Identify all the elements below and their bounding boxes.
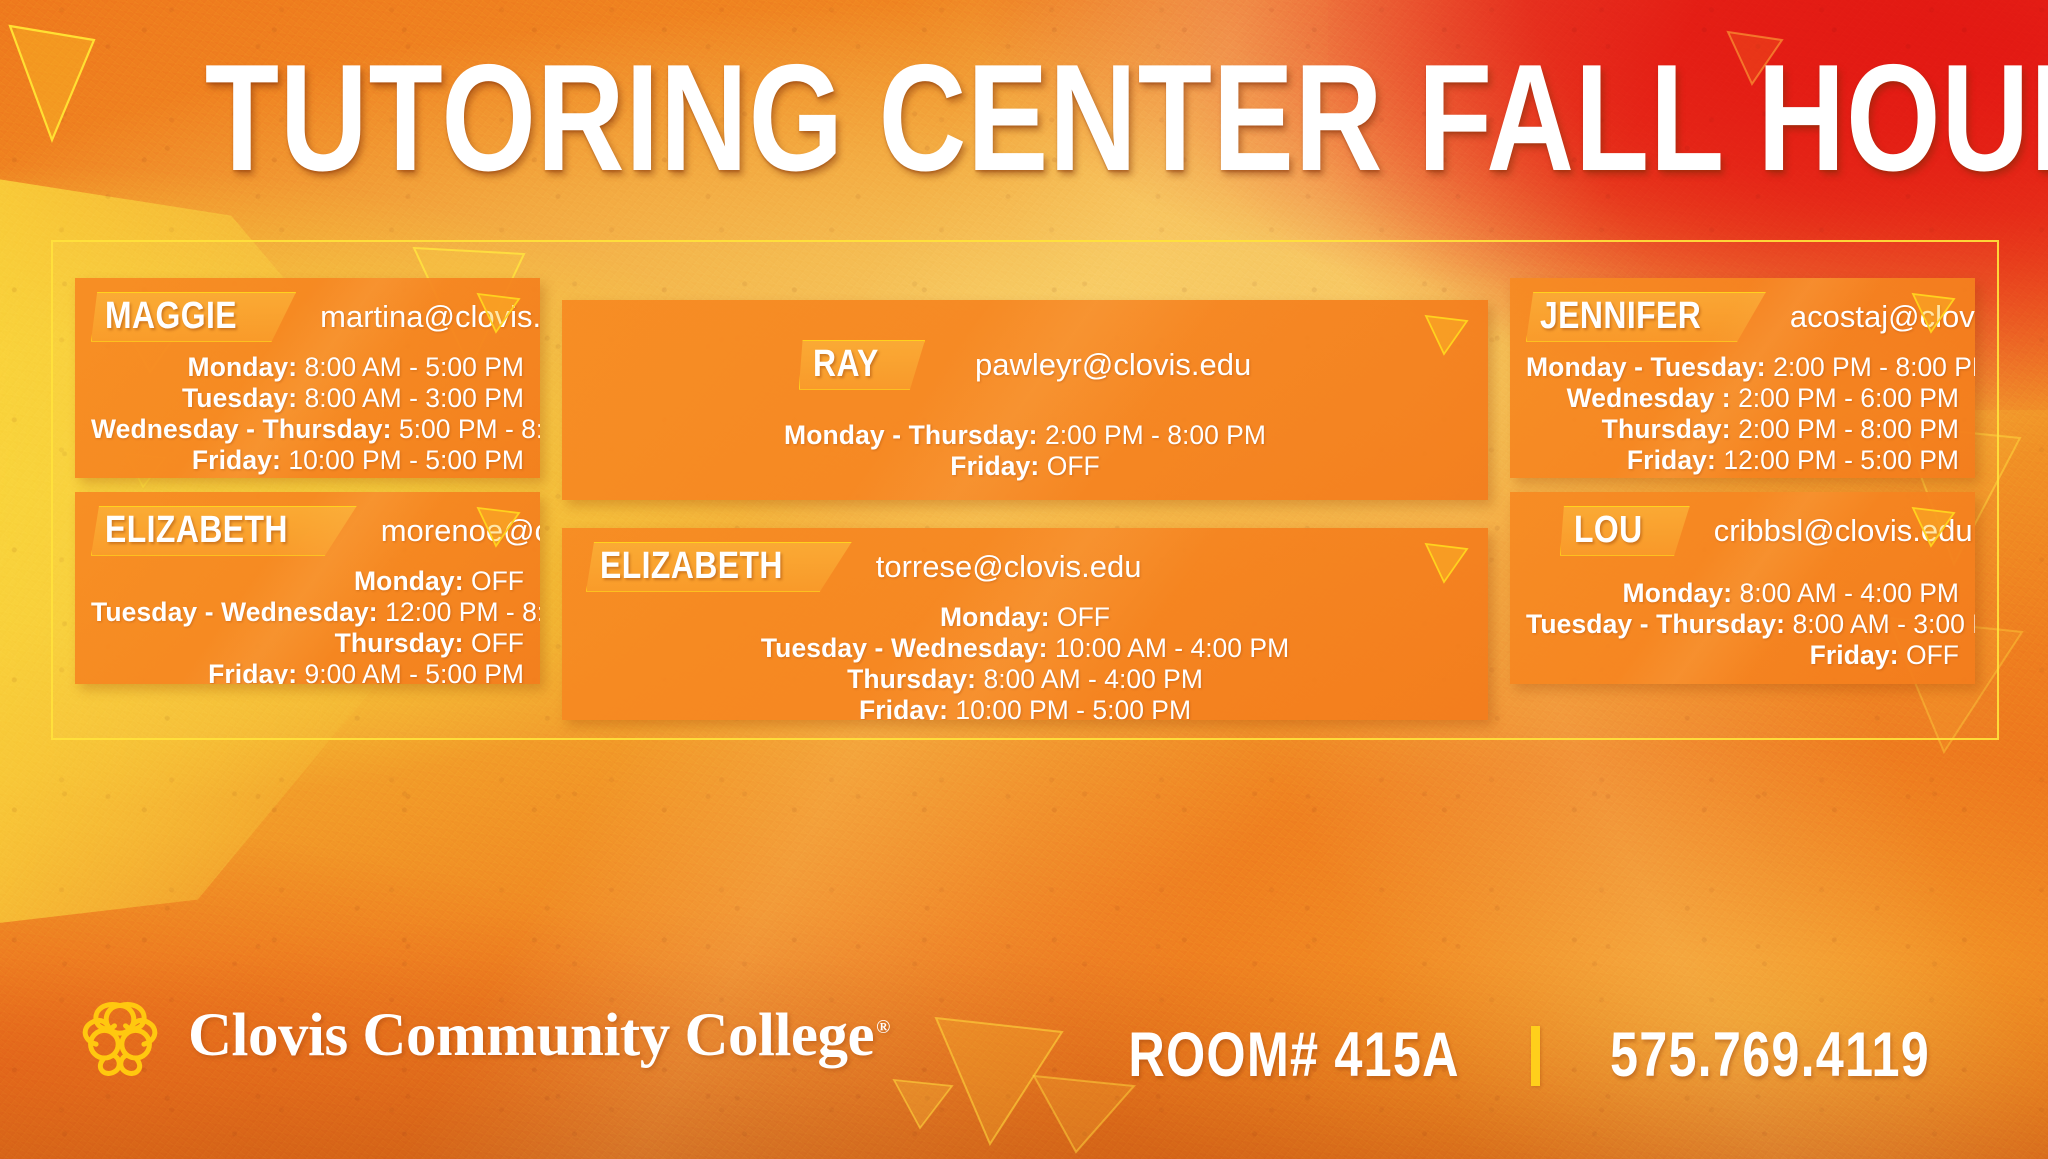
tutor-name-badge: RAY bbox=[799, 340, 925, 390]
schedule-row: Thursday: 8:00 AM - 4:00 PM bbox=[578, 664, 1472, 695]
schedule-time: 2:00 PM - 8:00 PM bbox=[1045, 420, 1266, 450]
schedule-row: Monday: OFF bbox=[578, 602, 1472, 633]
schedule-row: Friday: OFF bbox=[578, 451, 1472, 482]
schedule-row: Monday: 8:00 AM - 5:00 PM bbox=[91, 352, 524, 383]
schedule-day: Thursday: bbox=[847, 664, 976, 694]
schedule-time: OFF bbox=[471, 628, 524, 658]
tutor-schedule: Monday - Thursday: 2:00 PM - 8:00 PM Fri… bbox=[578, 420, 1472, 482]
tutor-email[interactable]: torrese@clovis.edu bbox=[876, 550, 1142, 584]
schedule-day: Tuesday - Wednesday: bbox=[91, 597, 378, 627]
schedule-time: 10:00 AM - 4:00 PM bbox=[1055, 633, 1289, 663]
schedule-row: Tuesday - Thursday: 8:00 AM - 3:00 PM bbox=[1526, 609, 1959, 640]
schedule-row: Monday - Tuesday: 2:00 PM - 8:00 PM bbox=[1526, 352, 1959, 383]
schedule-day: Friday: bbox=[1810, 640, 1899, 670]
schedule-day: Monday - Thursday: bbox=[784, 420, 1038, 450]
footer: Clovis Community College® ROOM# 415A 575… bbox=[0, 921, 2048, 1159]
schedule-time: 8:00 AM - 4:00 PM bbox=[1740, 578, 1959, 608]
tutor-card[interactable]: ELIZABETH morenoe@clovis.edu Monday: OFF… bbox=[75, 492, 540, 684]
schedule-time: 10:00 PM - 5:00 PM bbox=[288, 445, 524, 475]
schedule-row: Monday: OFF bbox=[91, 566, 524, 597]
page-title: TUTORING CENTER FALL HOURS bbox=[205, 46, 1843, 192]
tutor-name: ELIZABETH bbox=[105, 511, 288, 550]
schedule-day: Wednesday - Thursday: bbox=[91, 414, 392, 444]
schedule-time: OFF bbox=[1057, 602, 1110, 632]
card-corner-triangle-icon bbox=[476, 506, 522, 555]
schedule-day: Monday: bbox=[354, 566, 464, 596]
tutor-schedule: Monday: 8:00 AM - 5:00 PM Tuesday: 8:00 … bbox=[91, 352, 524, 477]
schedule-time: 2:00 PM - 8:00 PM bbox=[1738, 414, 1959, 444]
tutor-name: JENNIFER bbox=[1540, 297, 1701, 336]
schedule-row: Friday: 10:00 PM - 5:00 PM bbox=[91, 445, 524, 476]
college-name: Clovis Community College® bbox=[188, 1005, 890, 1066]
schedule-day: Tuesday - Wednesday: bbox=[761, 633, 1048, 663]
schedule-day: Friday: bbox=[950, 451, 1039, 481]
celtic-knot-icon bbox=[74, 989, 166, 1081]
schedule-time: 2:00 PM - 8:00 PM bbox=[1773, 352, 1975, 382]
room-number: ROOM# 415A bbox=[1128, 1024, 1459, 1087]
registered-mark: ® bbox=[876, 1017, 890, 1038]
tutor-schedule: Monday - Tuesday: 2:00 PM - 8:00 PM Wedn… bbox=[1526, 352, 1959, 477]
schedule-time: 8:00 AM - 5:00 PM bbox=[305, 352, 524, 382]
schedule-row: Monday - Thursday: 2:00 PM - 8:00 PM bbox=[578, 420, 1472, 451]
schedule-row: Friday: 9:00 AM - 5:00 PM bbox=[91, 659, 524, 684]
phone-number[interactable]: 575.769.4119 bbox=[1610, 1024, 1930, 1087]
schedule-day: Monday: bbox=[188, 352, 298, 382]
college-branding: Clovis Community College® bbox=[74, 989, 890, 1081]
tutor-card[interactable]: ELIZABETH torrese@clovis.edu Monday: OFF… bbox=[562, 528, 1488, 720]
tutor-card[interactable]: JENNIFER acostaj@clovis.edu Monday - Tue… bbox=[1510, 278, 1975, 478]
card-corner-triangle-icon bbox=[476, 292, 522, 341]
schedule-time: OFF bbox=[471, 566, 524, 596]
schedule-time: 2:00 PM - 6:00 PM bbox=[1738, 383, 1959, 413]
schedule-row: Wednesday - Thursday: 5:00 PM - 8:00 PM bbox=[91, 414, 524, 445]
schedule-day: Thursday: bbox=[335, 628, 464, 658]
tutor-card-grid: MAGGIE martina@clovis.edu Monday: 8:00 A… bbox=[75, 278, 1975, 720]
tutor-card-header: JENNIFER acostaj@clovis.edu bbox=[1526, 292, 1959, 342]
tutor-name-badge: MAGGIE bbox=[91, 292, 296, 342]
schedule-row: Thursday: 2:00 PM - 8:00 PM bbox=[1526, 414, 1959, 445]
schedule-day: Friday: bbox=[192, 445, 281, 475]
contact-info: ROOM# 415A 575.769.4119 bbox=[1087, 1024, 1970, 1087]
poster-canvas: TUTORING CENTER FALL HOURS MAGGIE martin… bbox=[0, 0, 2048, 1159]
tutor-name: ELIZABETH bbox=[600, 547, 783, 586]
schedule-row: Friday: OFF bbox=[1526, 640, 1959, 671]
tutor-schedule: Monday: OFF Tuesday - Wednesday: 12:00 P… bbox=[91, 566, 524, 684]
tutor-card[interactable]: RAY pawleyr@clovis.edu Monday - Thursday… bbox=[562, 300, 1488, 500]
tutor-card-header: RAY pawleyr@clovis.edu bbox=[578, 340, 1472, 390]
decorative-triangle-icon bbox=[8, 24, 98, 144]
grid-column-middle: RAY pawleyr@clovis.edu Monday - Thursday… bbox=[562, 278, 1488, 720]
schedule-time: 8:00 AM - 3:00 PM bbox=[1792, 609, 1975, 639]
college-name-text: Clovis Community College bbox=[188, 1002, 874, 1069]
schedule-day: Monday - Tuesday: bbox=[1526, 352, 1766, 382]
tutor-name-badge: ELIZABETH bbox=[586, 542, 852, 592]
tutor-name: RAY bbox=[813, 345, 879, 384]
tutor-email[interactable]: pawleyr@clovis.edu bbox=[975, 348, 1251, 382]
tutor-name-badge: JENNIFER bbox=[1526, 292, 1766, 342]
schedule-day: Monday: bbox=[1623, 578, 1733, 608]
schedule-row: Wednesday : 2:00 PM - 6:00 PM bbox=[1526, 383, 1959, 414]
tutor-card[interactable]: MAGGIE martina@clovis.edu Monday: 8:00 A… bbox=[75, 278, 540, 478]
schedule-time: 8:00 AM - 4:00 PM bbox=[983, 664, 1202, 694]
schedule-time: OFF bbox=[1047, 451, 1100, 481]
schedule-time: OFF bbox=[1906, 640, 1959, 670]
schedule-time: 12:00 PM - 8:00 PM bbox=[385, 597, 540, 627]
schedule-row: Monday: 8:00 AM - 4:00 PM bbox=[1526, 578, 1959, 609]
schedule-day: Friday: bbox=[208, 659, 297, 684]
schedule-time: 10:00 PM - 5:00 PM bbox=[955, 695, 1191, 720]
schedule-row: Tuesday: 8:00 AM - 3:00 PM bbox=[91, 383, 524, 414]
schedule-day: Thursday: bbox=[1602, 414, 1731, 444]
tutor-card-header: LOU cribbsl@clovis.edu bbox=[1526, 506, 1959, 556]
schedule-time: 5:00 PM - 8:00 PM bbox=[399, 414, 540, 444]
tutor-name: LOU bbox=[1574, 511, 1643, 550]
schedule-row: Thursday: OFF bbox=[91, 628, 524, 659]
tutor-name-badge: LOU bbox=[1560, 506, 1690, 556]
schedule-day: Wednesday : bbox=[1567, 383, 1731, 413]
schedule-time: 8:00 AM - 3:00 PM bbox=[305, 383, 524, 413]
card-corner-triangle-icon bbox=[1424, 542, 1470, 591]
card-corner-triangle-icon bbox=[1911, 506, 1957, 555]
tutor-name-badge: ELIZABETH bbox=[91, 506, 357, 556]
contact-divider bbox=[1531, 1026, 1540, 1086]
schedule-time: 12:00 PM - 5:00 PM bbox=[1723, 445, 1959, 475]
tutor-name: MAGGIE bbox=[105, 297, 237, 336]
schedule-row: Tuesday - Wednesday: 12:00 PM - 8:00 PM bbox=[91, 597, 524, 628]
tutor-card[interactable]: LOU cribbsl@clovis.edu Monday: 8:00 AM -… bbox=[1510, 492, 1975, 684]
schedule-time: 9:00 AM - 5:00 PM bbox=[305, 659, 524, 684]
grid-column-left: MAGGIE martina@clovis.edu Monday: 8:00 A… bbox=[75, 278, 540, 720]
tutor-schedule: Monday: OFF Tuesday - Wednesday: 10:00 A… bbox=[578, 602, 1472, 720]
tutor-card-header: MAGGIE martina@clovis.edu bbox=[91, 292, 524, 342]
schedule-day: Tuesday: bbox=[182, 383, 297, 413]
tutor-card-header: ELIZABETH torrese@clovis.edu bbox=[578, 542, 1472, 592]
schedule-row: Tuesday - Wednesday: 10:00 AM - 4:00 PM bbox=[578, 633, 1472, 664]
schedule-row: Friday: 12:00 PM - 5:00 PM bbox=[1526, 445, 1959, 476]
grid-column-right: JENNIFER acostaj@clovis.edu Monday - Tue… bbox=[1510, 278, 1975, 720]
card-corner-triangle-icon bbox=[1911, 292, 1957, 341]
schedule-day: Friday: bbox=[1627, 445, 1716, 475]
schedule-day: Friday: bbox=[859, 695, 948, 720]
tutor-schedule: Monday: 8:00 AM - 4:00 PM Tuesday - Thur… bbox=[1526, 578, 1959, 671]
schedule-row: Friday: 10:00 PM - 5:00 PM bbox=[578, 695, 1472, 720]
tutor-card-header: ELIZABETH morenoe@clovis.edu bbox=[91, 506, 524, 556]
card-corner-triangle-icon bbox=[1424, 314, 1470, 363]
schedule-day: Tuesday - Thursday: bbox=[1526, 609, 1785, 639]
schedule-day: Monday: bbox=[940, 602, 1050, 632]
